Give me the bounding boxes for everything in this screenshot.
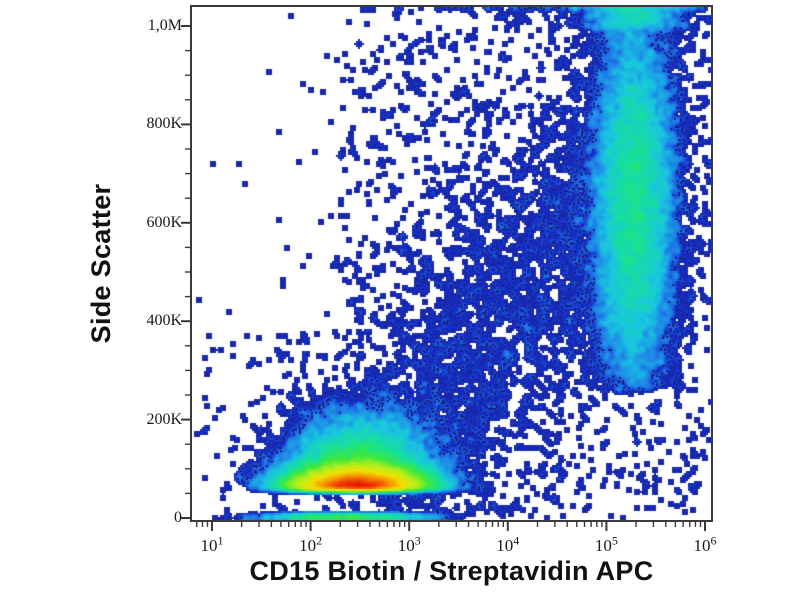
flow-cytometry-figure: 1,0M800K600K400K200K0 101102103104105106… [0, 0, 800, 600]
y-axis-title: Side Scatter [78, 5, 124, 522]
x-tick-exponent: 6 [711, 533, 717, 547]
x-tick-base: 10 [398, 536, 415, 555]
x-tick-exponent: 4 [513, 533, 519, 547]
x-tick-exponent: 2 [316, 533, 322, 547]
x-tick-label: 106 [694, 536, 717, 556]
x-tick-base: 10 [595, 536, 612, 555]
x-tick-base: 10 [496, 536, 513, 555]
x-tick-base: 10 [299, 536, 316, 555]
x-tick-label: 104 [496, 536, 519, 556]
x-tick-label: 103 [398, 536, 421, 556]
x-tick-base: 10 [694, 536, 711, 555]
x-axis-title: CD15 Biotin / Streptavidin APC [190, 556, 713, 587]
x-tick-label: 102 [299, 536, 322, 556]
x-tick-exponent: 3 [415, 533, 421, 547]
x-tick-exponent: 5 [612, 533, 618, 547]
x-tick-base: 10 [201, 536, 218, 555]
x-tick-label: 105 [595, 536, 618, 556]
x-tick-label: 101 [201, 536, 224, 556]
x-tick-exponent: 1 [218, 533, 224, 547]
